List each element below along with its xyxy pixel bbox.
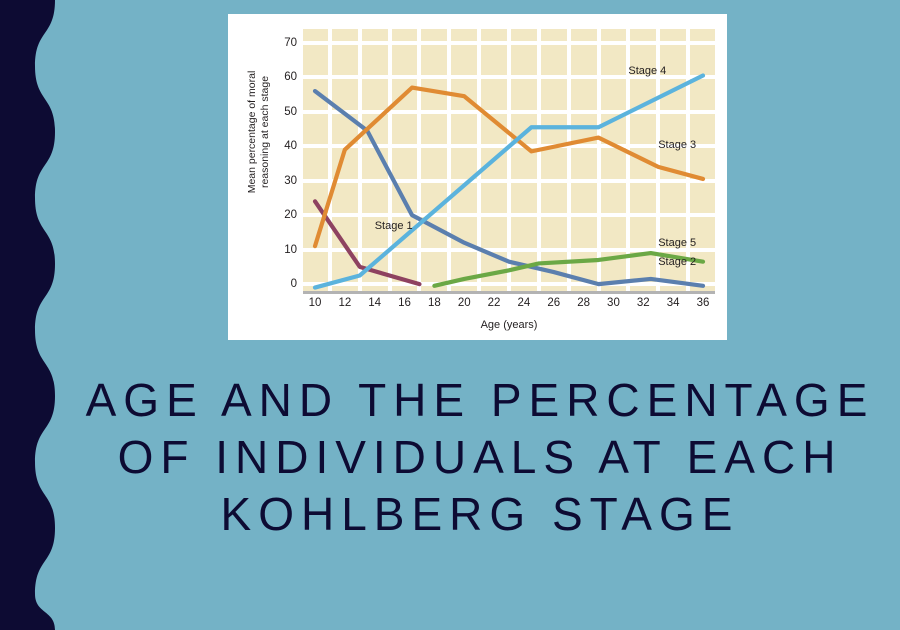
x-axis-tick-label: 12 (329, 297, 361, 309)
x-axis-tick-label: 24 (508, 297, 540, 309)
x-axis-tick-label: 20 (448, 297, 480, 309)
y-axis-tick-label: 10 (257, 244, 297, 256)
y-axis-tick-label: 40 (257, 140, 297, 152)
y-axis-tick-label: 70 (257, 37, 297, 49)
series-line-stage-2 (315, 91, 703, 286)
series-label-stage-5: Stage 5 (658, 237, 696, 249)
x-axis-tick-label: 18 (418, 297, 450, 309)
x-axis-tick-label: 32 (627, 297, 659, 309)
series-label-stage-2: Stage 2 (658, 256, 696, 268)
x-axis-tick-label: 28 (568, 297, 600, 309)
y-axis-tick-label: 20 (257, 209, 297, 221)
series-label-stage-4: Stage 4 (628, 65, 666, 77)
x-axis-tick-label: 10 (299, 297, 331, 309)
y-axis-title: Mean percentage of moral reasoning at ea… (246, 37, 272, 227)
x-axis-tick-label: 14 (359, 297, 391, 309)
series-label-stage-3: Stage 3 (658, 139, 696, 151)
x-axis-baseline (303, 291, 715, 294)
x-axis-tick-label: 30 (597, 297, 629, 309)
decorative-wave-band (0, 0, 70, 630)
series-line-stage-3 (315, 88, 703, 247)
y-axis-tick-label: 50 (257, 106, 297, 118)
y-axis-tick-label: 0 (257, 278, 297, 290)
x-axis-title: Age (years) (303, 319, 715, 331)
x-axis-tick-label: 22 (478, 297, 510, 309)
series-label-stage-1: Stage 1 (375, 220, 413, 232)
page-title: AGE AND THE PERCENTAGE OF INDIVIDUALS AT… (70, 372, 890, 543)
y-axis-tick-label: 30 (257, 175, 297, 187)
x-axis-tick-label: 36 (687, 297, 719, 309)
y-axis-tick-label: 60 (257, 71, 297, 83)
x-axis-tick-label: 26 (538, 297, 570, 309)
plot-area: 010203040506070 101214161820222426283032… (303, 29, 715, 299)
chart-card: Mean percentage of moral reasoning at ea… (228, 14, 727, 340)
x-axis-tick-label: 16 (389, 297, 421, 309)
x-axis-tick-label: 34 (657, 297, 689, 309)
slide-canvas: Mean percentage of moral reasoning at ea… (0, 0, 900, 630)
